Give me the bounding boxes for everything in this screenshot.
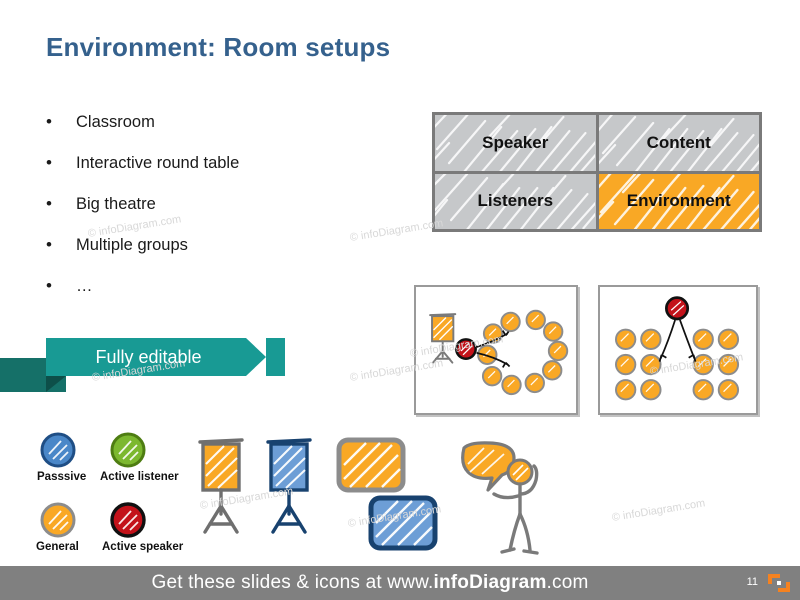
screen-orange-icon[interactable] — [336, 437, 406, 498]
classroom-graphic — [600, 287, 756, 413]
footer-suffix: .com — [547, 572, 589, 594]
list-item: • Classroom — [42, 112, 372, 134]
passive-icon — [38, 430, 78, 470]
matrix-cell-speaker[interactable]: Speaker — [435, 115, 596, 171]
legend-label: Passsive — [37, 471, 86, 483]
footer-bar: Get these slides & icons at www.infoDiag… — [0, 566, 800, 600]
ribbon-label: Fully editable — [46, 338, 251, 376]
footer-brand: infoDiagram — [434, 572, 547, 594]
screen-orange-graphic — [336, 437, 406, 493]
bullet-label: Classroom — [76, 112, 155, 132]
flipchart-orange-icon[interactable] — [190, 432, 252, 552]
speaker-person-icon[interactable] — [458, 438, 563, 563]
list-item: • … — [42, 276, 372, 298]
bullet-list: • Classroom • Interactive round table • … — [42, 112, 372, 317]
matrix-cell-listeners[interactable]: Listeners — [435, 174, 596, 230]
room-diagram-classroom[interactable] — [598, 285, 758, 415]
fully-editable-ribbon: Fully editable — [0, 338, 285, 376]
list-item: • Interactive round table — [42, 153, 372, 175]
footer-prefix: Get these slides & icons at www. — [151, 572, 433, 594]
bullet-marker: • — [42, 153, 76, 173]
list-item: • Big theatre — [42, 194, 372, 216]
matrix-cell-content[interactable]: Content — [599, 115, 760, 171]
watermark: © infoDiagram.com — [611, 497, 706, 524]
matrix-cell-label: Environment — [627, 191, 731, 211]
speaker-person-graphic — [458, 438, 563, 558]
bullet-label: Big theatre — [76, 194, 156, 214]
bullet-marker: • — [42, 112, 76, 132]
slide: Environment: Room setups • Classroom • I… — [0, 0, 800, 600]
active-speaker-icon — [108, 500, 148, 540]
legend-label: General — [36, 541, 79, 553]
general-icon — [38, 500, 78, 540]
matrix-cell-label: Listeners — [477, 191, 553, 211]
bullet-label: … — [76, 276, 93, 296]
legend-label: Active speaker — [102, 541, 183, 553]
flipchart-orange-graphic — [190, 432, 252, 547]
legend-label: Active listener — [100, 471, 179, 483]
page-number: 11 — [747, 576, 758, 588]
matrix-cell-label: Speaker — [482, 133, 548, 153]
arrow-group — [660, 320, 696, 362]
bullet-marker: • — [42, 235, 76, 255]
bullet-label: Interactive round table — [76, 153, 239, 173]
footer-text[interactable]: Get these slides & icons at www.infoDiag… — [0, 566, 800, 600]
matrix-cell-label: Content — [647, 133, 711, 153]
active-listener-icon — [108, 430, 148, 470]
bullet-marker: • — [42, 194, 76, 214]
page-title: Environment: Room setups — [46, 32, 390, 63]
speaker-dot — [666, 298, 687, 319]
infodiagram-logo-icon — [766, 572, 792, 594]
bullet-marker: • — [42, 276, 76, 296]
matrix-table: Speaker Content — [432, 112, 762, 232]
ribbon-fold — [46, 376, 66, 392]
matrix-cell-environment[interactable]: Environment — [599, 174, 760, 230]
speech-bubble-icon — [463, 443, 514, 490]
screen-blue-icon[interactable] — [368, 495, 438, 556]
